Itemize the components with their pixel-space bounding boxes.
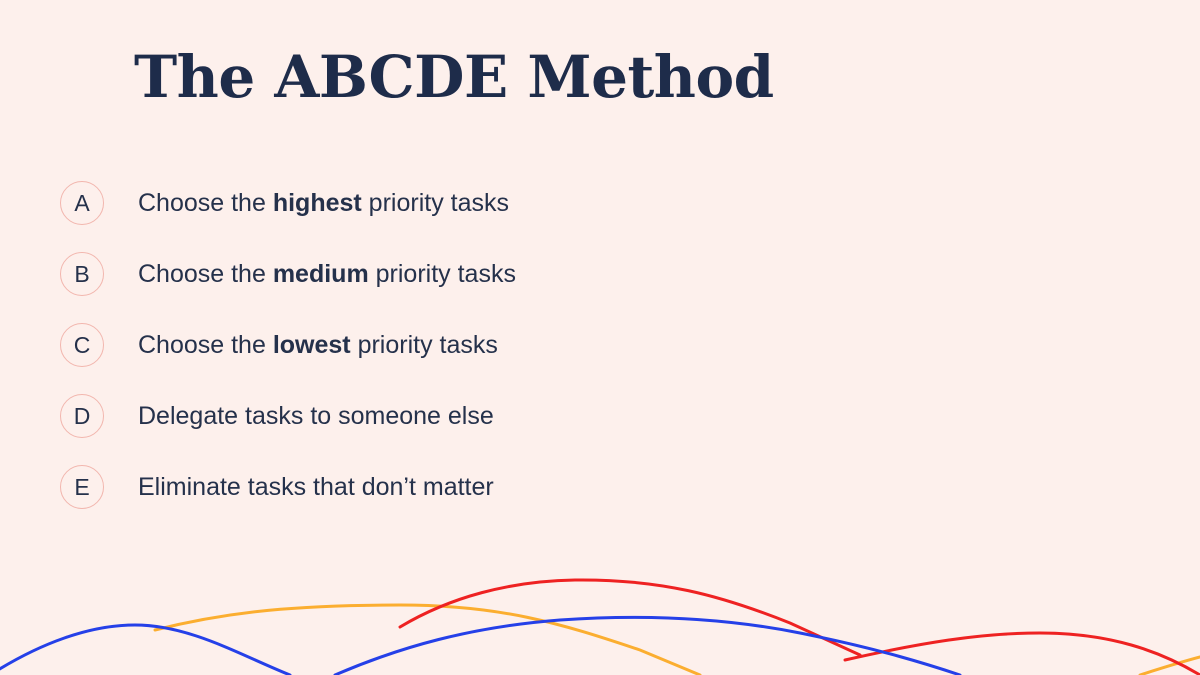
list-item: B Choose the medium priority tasks bbox=[60, 252, 960, 296]
badge-letter: E bbox=[74, 476, 89, 499]
text-prefix: Eliminate tasks that don’t matter bbox=[138, 473, 494, 501]
wave-lines-decoration bbox=[0, 515, 1200, 675]
text-emphasis: lowest bbox=[273, 331, 351, 359]
slide-root: The ABCDE Method A Choose the highest pr… bbox=[0, 0, 1200, 675]
list-item: C Choose the lowest priority tasks bbox=[60, 323, 960, 367]
wave-red-tail-icon bbox=[845, 633, 1200, 675]
list-item-text-b: Choose the medium priority tasks bbox=[138, 259, 516, 289]
list-item-text-c: Choose the lowest priority tasks bbox=[138, 330, 498, 360]
text-prefix: Delegate tasks to someone else bbox=[138, 402, 494, 430]
badge-b: B bbox=[60, 252, 104, 296]
abcde-list: A Choose the highest priority tasks B Ch… bbox=[60, 181, 960, 536]
list-item-text-e: Eliminate tasks that don’t matter bbox=[138, 472, 494, 502]
list-item-text-a: Choose the highest priority tasks bbox=[138, 188, 509, 218]
badge-c: C bbox=[60, 323, 104, 367]
badge-letter: D bbox=[74, 405, 91, 428]
text-suffix: priority tasks bbox=[369, 260, 516, 288]
badge-letter: A bbox=[74, 192, 89, 215]
text-prefix: Choose the bbox=[138, 260, 273, 288]
wave-blue-icon bbox=[0, 625, 290, 675]
badge-letter: B bbox=[74, 263, 89, 286]
badge-a: A bbox=[60, 181, 104, 225]
list-item: E Eliminate tasks that don’t matter bbox=[60, 465, 960, 509]
list-item: D Delegate tasks to someone else bbox=[60, 394, 960, 438]
text-emphasis: medium bbox=[273, 260, 369, 288]
page-title: The ABCDE Method bbox=[134, 48, 774, 106]
text-suffix: priority tasks bbox=[351, 331, 498, 359]
list-item-text-d: Delegate tasks to someone else bbox=[138, 401, 494, 431]
text-emphasis: highest bbox=[273, 189, 362, 217]
text-suffix: priority tasks bbox=[362, 189, 509, 217]
wave-orange-icon bbox=[155, 605, 700, 675]
list-item: A Choose the highest priority tasks bbox=[60, 181, 960, 225]
badge-d: D bbox=[60, 394, 104, 438]
text-prefix: Choose the bbox=[138, 189, 273, 217]
text-prefix: Choose the bbox=[138, 331, 273, 359]
badge-e: E bbox=[60, 465, 104, 509]
wave-blue-2-icon bbox=[335, 617, 960, 675]
badge-letter: C bbox=[74, 334, 91, 357]
